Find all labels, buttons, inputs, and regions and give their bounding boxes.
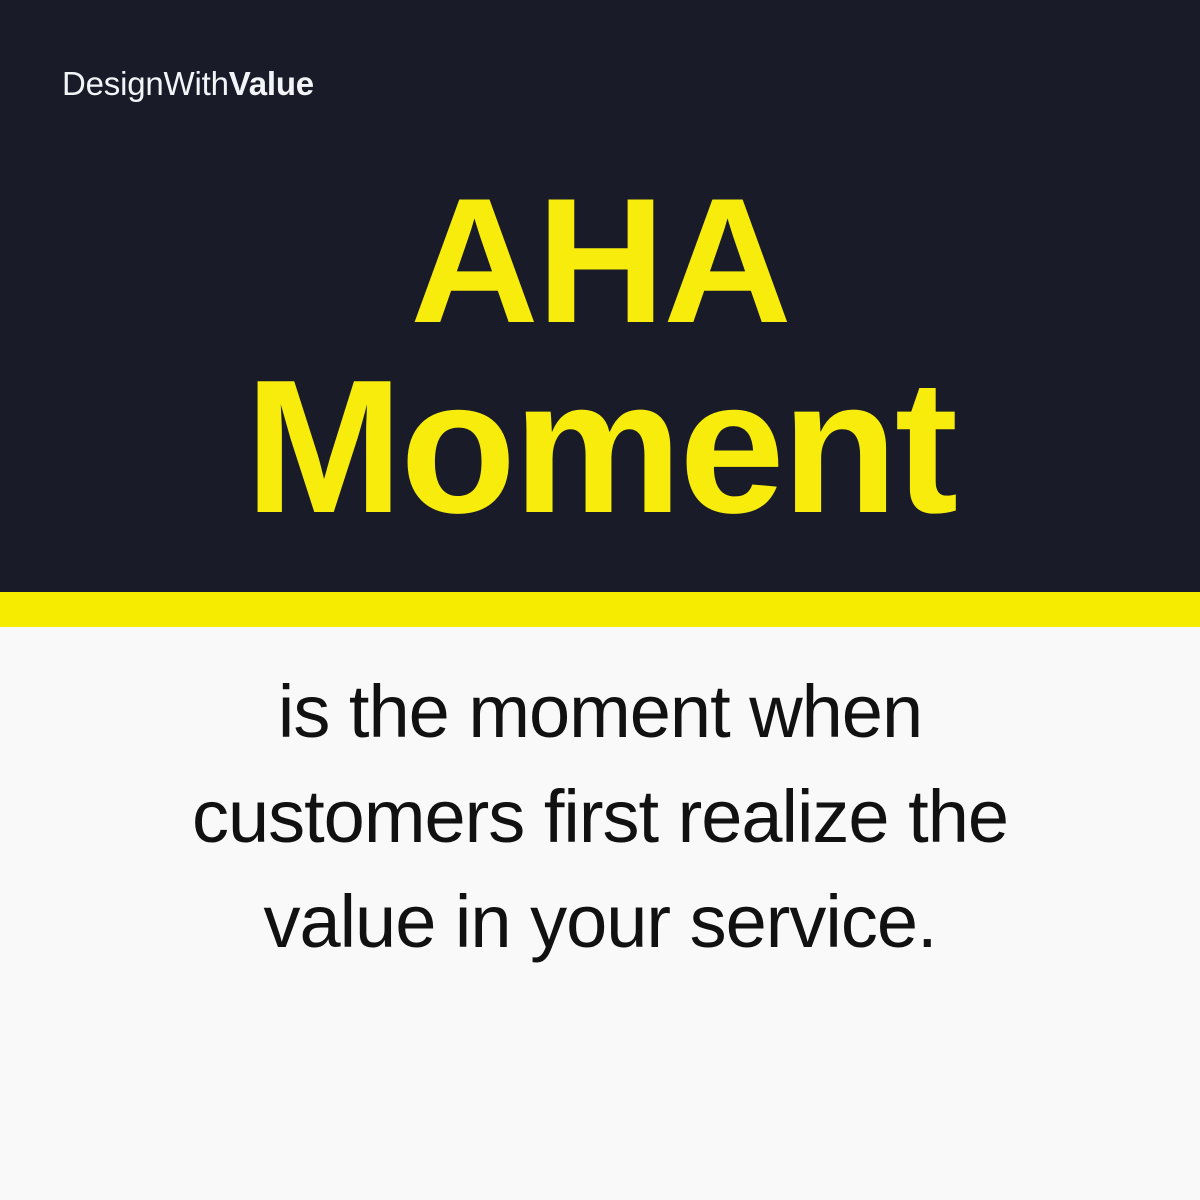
hero-title-line-1: AHA [0,168,1200,354]
hero-title-line-2: Moment [0,354,1200,540]
hero-section: DesignWithValue AHA Moment [0,0,1200,592]
brand-logo[interactable]: DesignWithValue [62,64,314,104]
brand-logo-bold-text: Value [229,65,314,102]
definition-text: is the moment when customers first reali… [0,659,1200,974]
body-section: is the moment when customers first reali… [0,627,1200,1200]
definition-line-1: is the moment when [40,659,1160,764]
poster-card: DesignWithValue AHA Moment is the moment… [0,0,1200,1200]
brand-logo-light-text: DesignWith [62,65,229,102]
yellow-divider-bar [0,592,1200,627]
definition-line-2: customers first realize the [40,764,1160,869]
hero-title: AHA Moment [0,168,1200,540]
definition-line-3: value in your service. [40,869,1160,974]
